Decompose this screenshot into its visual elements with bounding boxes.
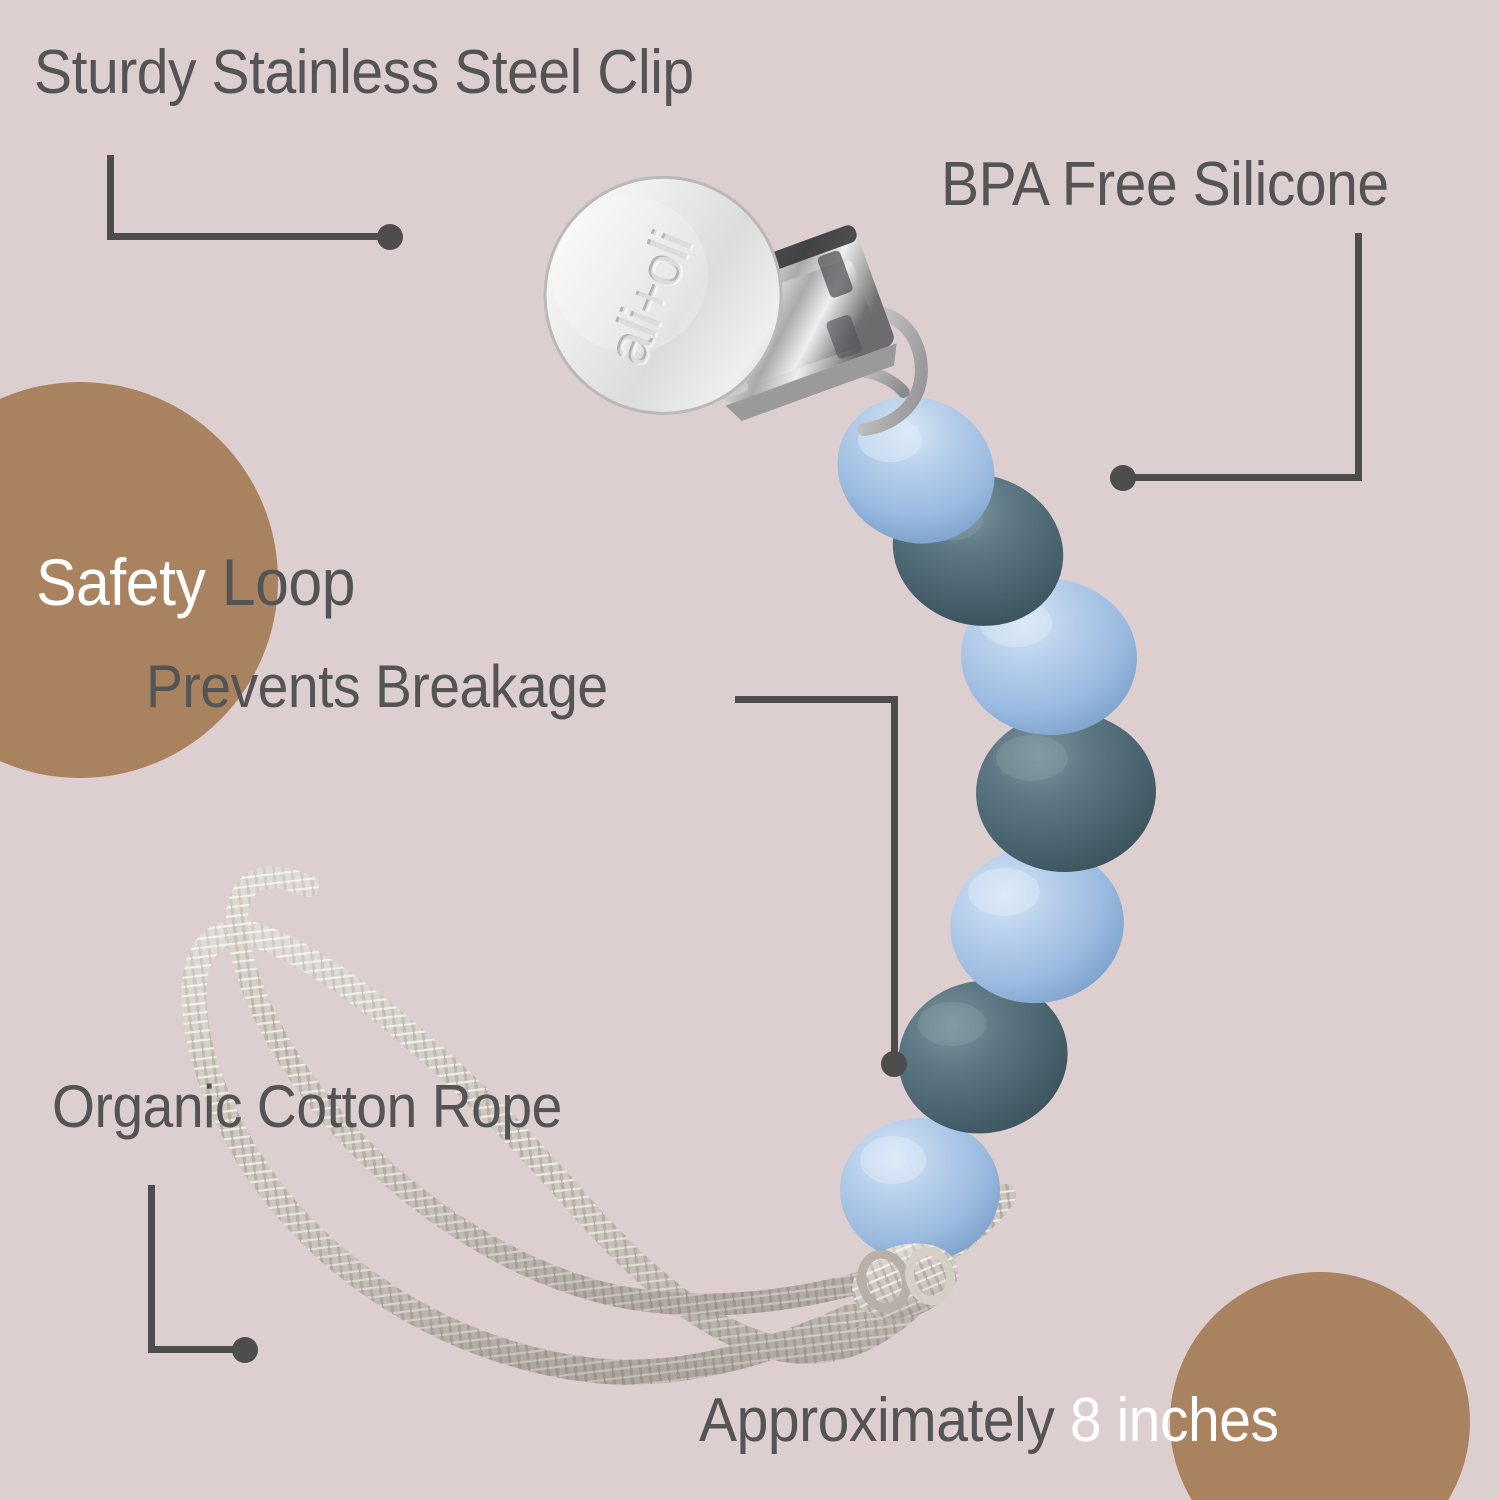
callout-bpa-free-silicone: BPA Free Silicone [941, 152, 1389, 217]
leader-line-breakage-vertical [891, 696, 898, 1061]
callout-length-prefix: Approximately [699, 1386, 1070, 1455]
leader-line-clip-horizontal [107, 233, 392, 240]
leader-line-rope-horizontal [148, 1346, 242, 1353]
callout-safety-rest: Loop [205, 545, 355, 619]
infographic-canvas: ali+oli ali+oli Sturdy Stainless Steel C… [0, 0, 1500, 1500]
bead-7 [840, 1118, 1000, 1262]
callout-organic-cotton-rope: Organic Cotton Rope [52, 1075, 562, 1138]
callout-prevents-breakage: Prevents Breakage [146, 655, 608, 718]
leader-dot-bpa [1110, 465, 1136, 491]
callout-safety-highlight: Safety [36, 545, 205, 619]
callout-length-highlight: 8 inches [1070, 1386, 1279, 1455]
silicone-bead-chain [813, 370, 1161, 1330]
leader-line-clip-vertical [107, 155, 114, 240]
leader-line-bpa-vertical [1355, 233, 1362, 481]
leader-line-breakage-horizontal [735, 696, 898, 703]
leader-line-rope-vertical [148, 1185, 155, 1353]
leader-dot-breakage [881, 1051, 907, 1077]
product-photo: ali+oli ali+oli [0, 0, 1500, 1500]
leader-dot-rope [232, 1337, 258, 1363]
leader-line-bpa-horizontal [1122, 474, 1362, 481]
callout-sturdy-stainless-steel-clip: Sturdy Stainless Steel Clip [34, 40, 694, 105]
leader-dot-clip [377, 224, 403, 250]
callout-safety-loop: Safety Loop [36, 548, 355, 617]
callout-approximate-length: Approximately 8 inches [699, 1388, 1279, 1453]
